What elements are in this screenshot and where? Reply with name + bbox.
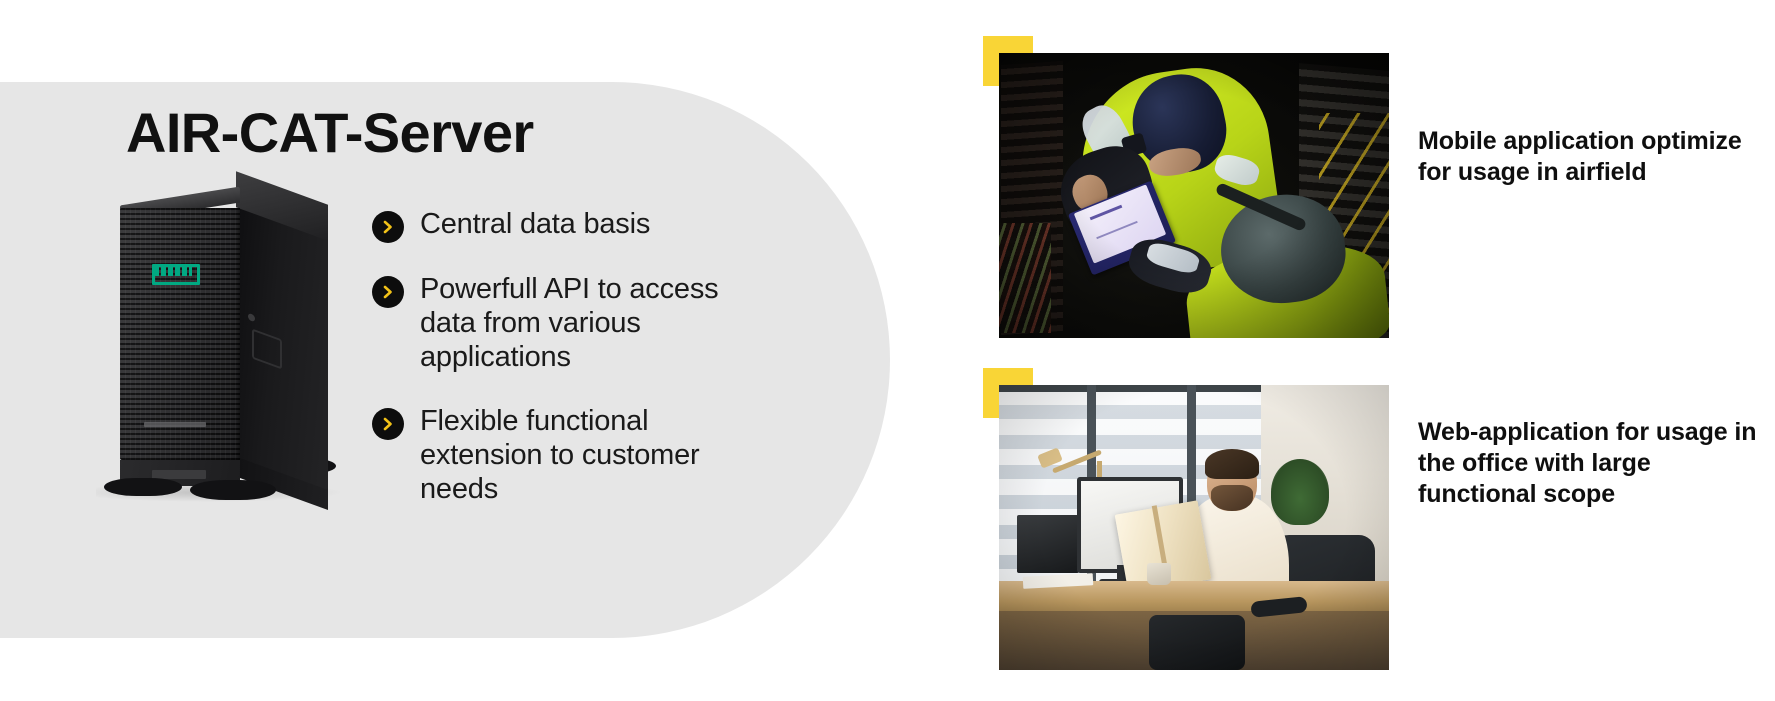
list-item-label: Flexible functional extension to custome… bbox=[420, 405, 732, 507]
chevron-right-icon bbox=[372, 408, 404, 440]
chevron-right-icon bbox=[372, 211, 404, 243]
office-worker-photo bbox=[999, 385, 1389, 670]
list-item: Central data basis bbox=[372, 208, 732, 243]
server-brand-text bbox=[144, 422, 206, 427]
photo1-vignette bbox=[999, 53, 1389, 338]
page-title: AIR-CAT-Server bbox=[126, 102, 534, 164]
list-item: Flexible functional extension to custome… bbox=[372, 405, 732, 507]
caption-web-application: Web-application for usage in the office … bbox=[1418, 417, 1768, 510]
server-foot-left bbox=[104, 478, 182, 496]
list-item-label: Powerfull API to access data from variou… bbox=[420, 273, 732, 375]
feature-bullet-list: Central data basis Powerfull API to acce… bbox=[372, 208, 732, 507]
caption-mobile-application: Mobile application optimize for usage in… bbox=[1418, 126, 1758, 188]
server-foot-right bbox=[190, 480, 276, 500]
hpe-proliant-tower-server-image bbox=[96, 186, 346, 516]
list-item: Powerfull API to access data from variou… bbox=[372, 273, 732, 375]
hpe-logo-bars bbox=[154, 267, 192, 276]
chevron-right-icon bbox=[372, 276, 404, 308]
photo2-vignette bbox=[999, 385, 1389, 670]
list-item-label: Central data basis bbox=[420, 208, 650, 242]
airfield-technicians-photo bbox=[999, 53, 1389, 338]
slide-canvas: AIR-CAT-Server Central data basis bbox=[0, 0, 1775, 701]
